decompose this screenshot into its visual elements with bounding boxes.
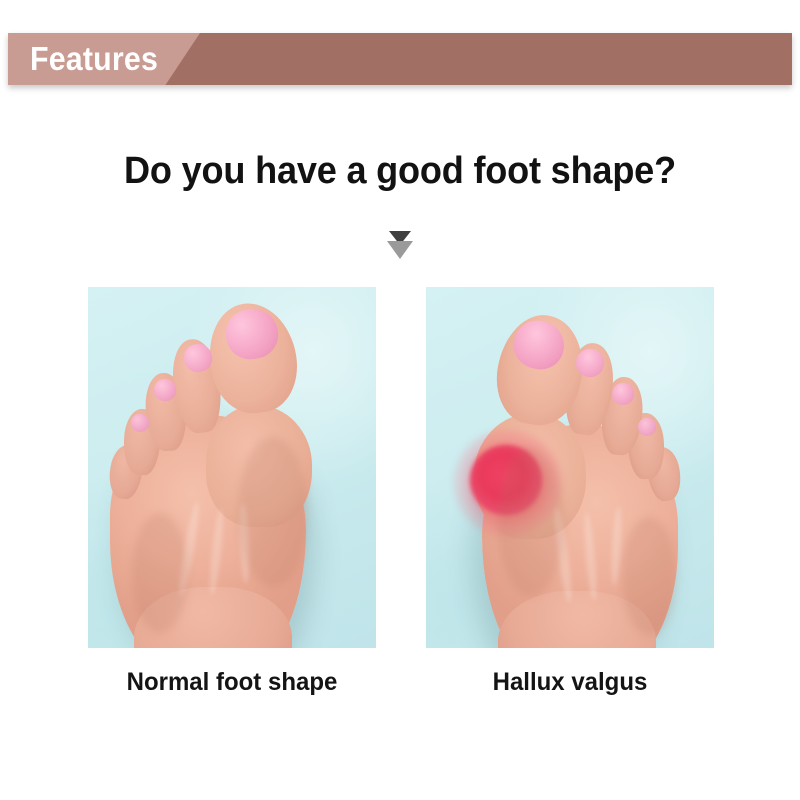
hallux-valgus-foot-illustration xyxy=(426,287,714,648)
banner-label: Features xyxy=(30,33,158,85)
photo-hallux-valgus-foot xyxy=(426,287,714,648)
caption-hallux-valgus: Hallux valgus xyxy=(432,668,708,697)
caption-normal-foot: Normal foot shape xyxy=(94,668,370,697)
photo-normal-foot xyxy=(88,287,376,648)
normal-foot-illustration xyxy=(88,287,376,648)
comparison-photo-row xyxy=(0,287,800,649)
features-banner: Features xyxy=(8,33,792,85)
page-title: Do you have a good foot shape? xyxy=(20,150,780,193)
double-down-arrow-icon xyxy=(383,228,417,262)
